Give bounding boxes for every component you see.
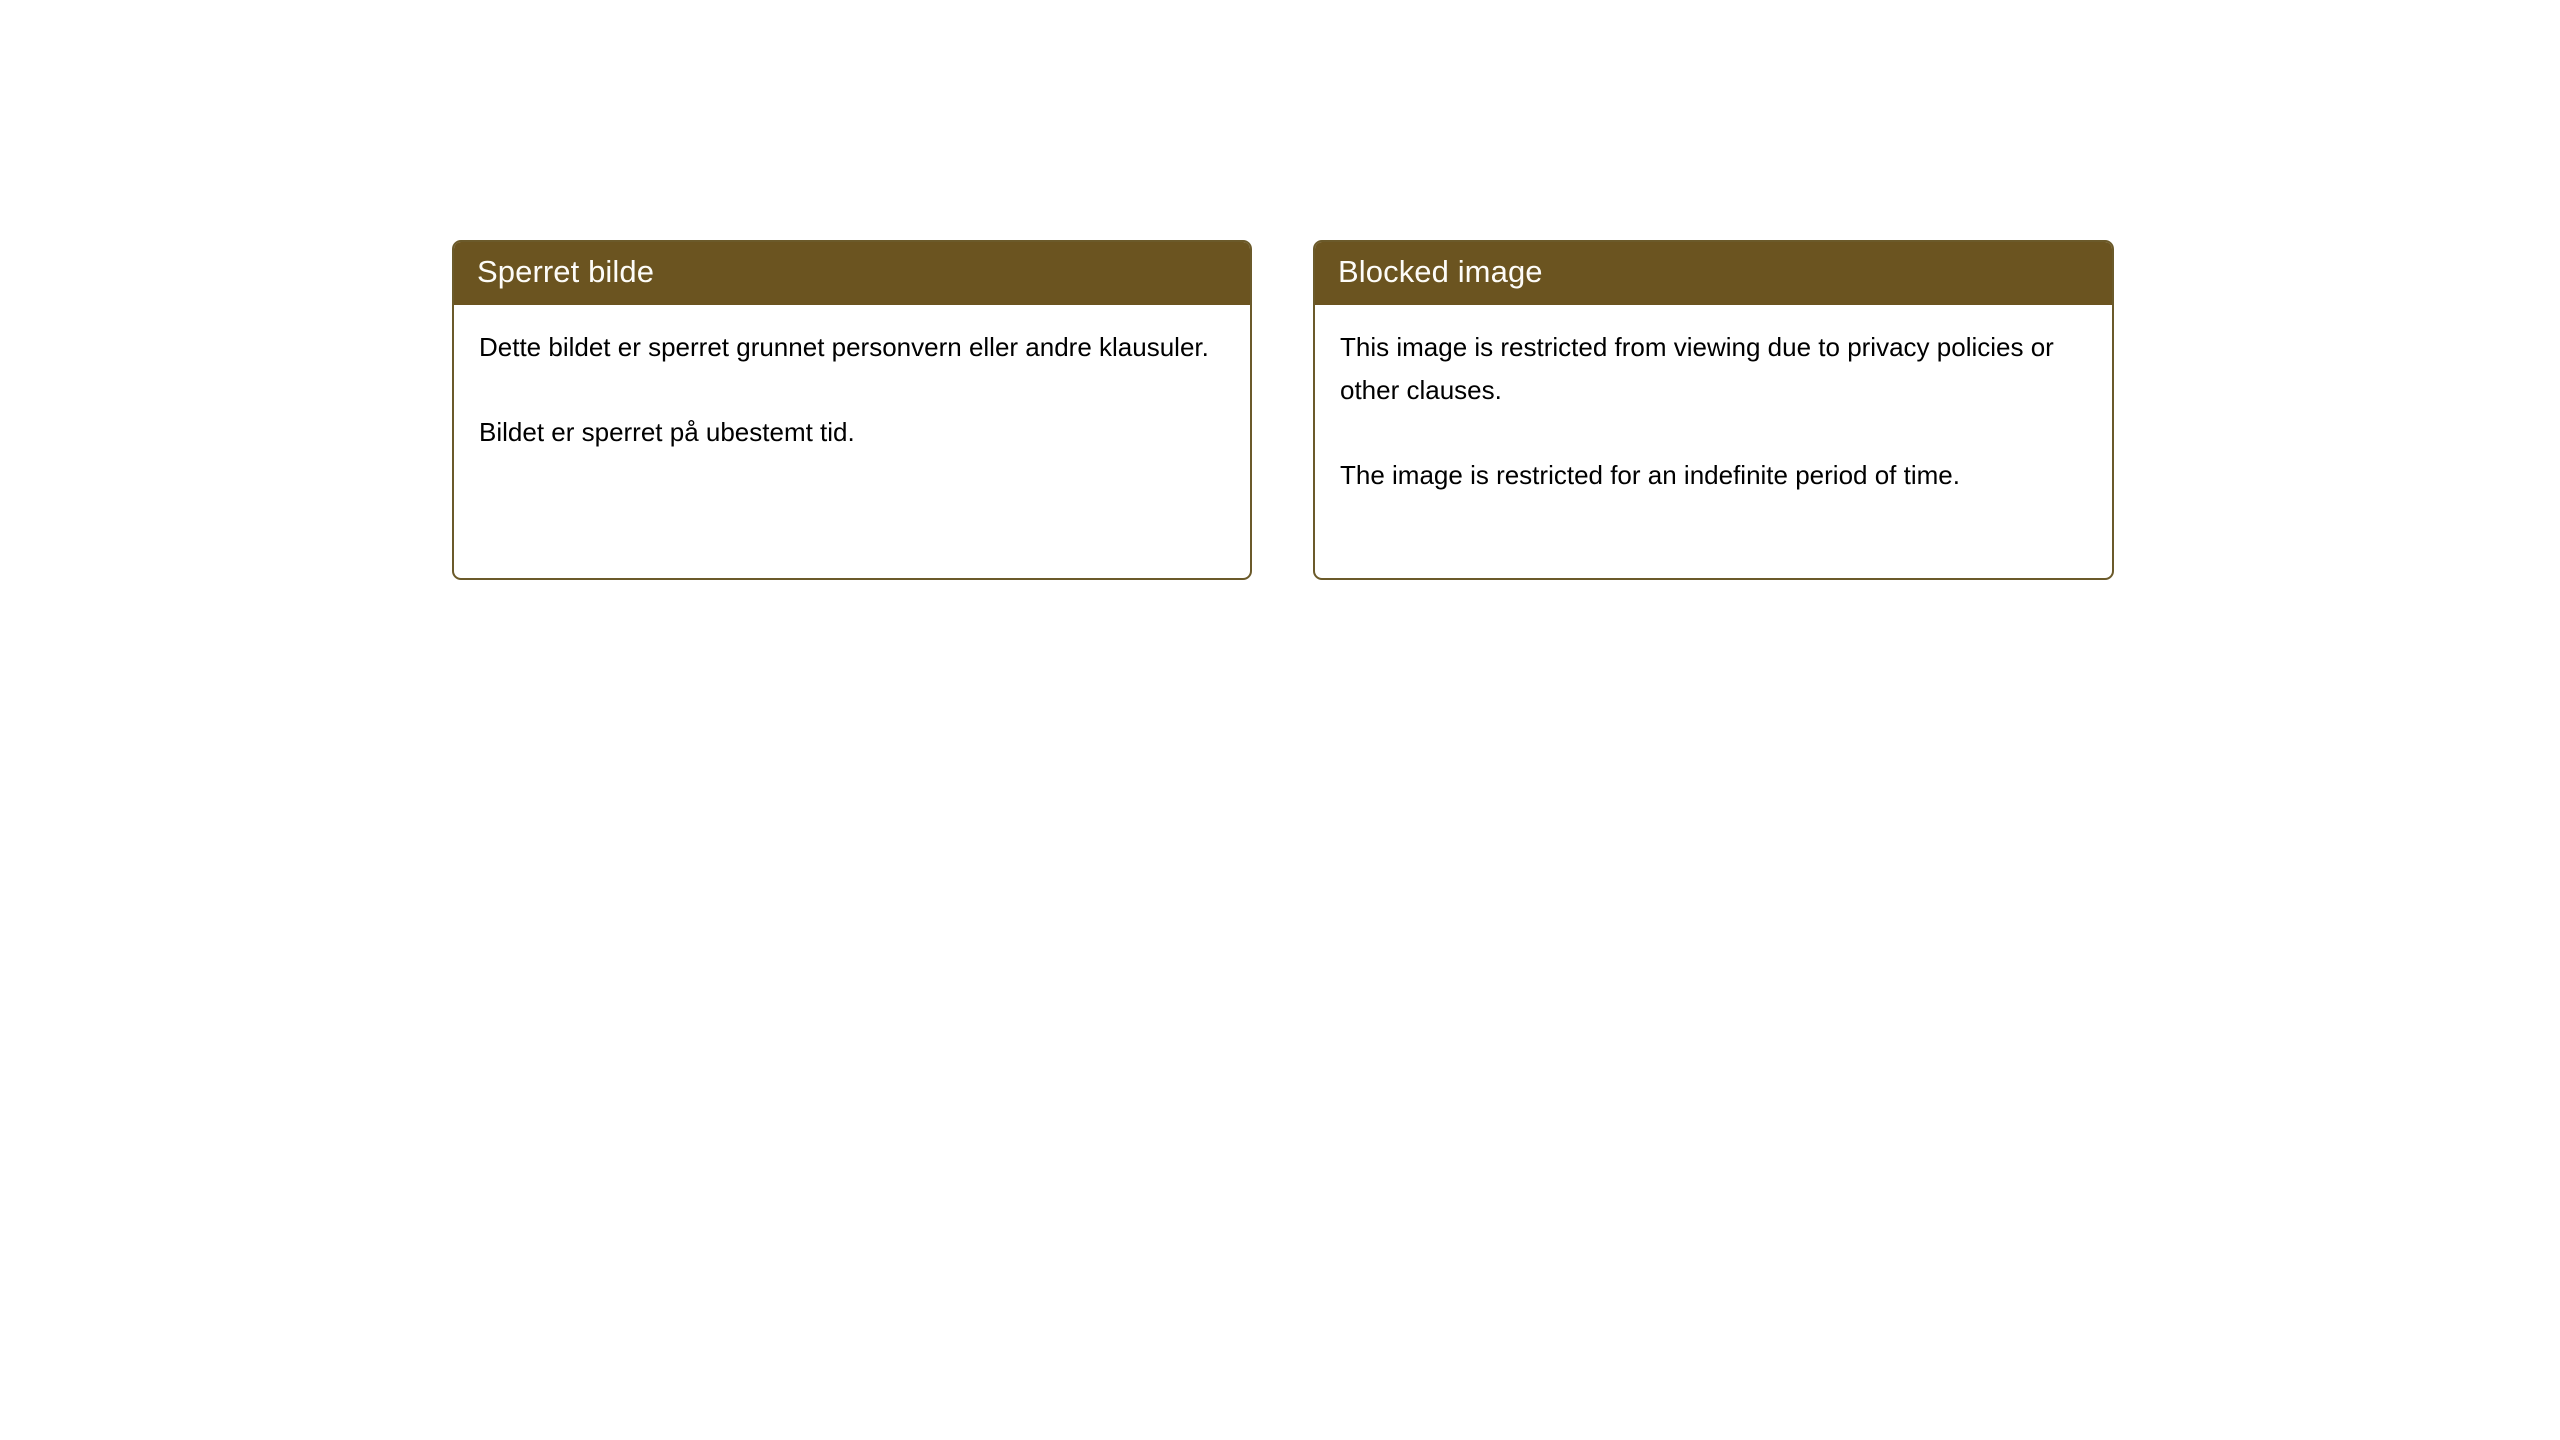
notice-paragraph-duration-en: The image is restricted for an indefinit… xyxy=(1340,454,2088,497)
notice-title-en: Blocked image xyxy=(1313,256,1543,290)
notice-body-no: Dette bildet er sperret grunnet personve… xyxy=(454,305,1250,578)
notice-body-en: This image is restricted from viewing du… xyxy=(1315,305,2112,578)
notice-paragraph-duration-no: Bildet er sperret på ubestemt tid. xyxy=(479,411,1226,454)
page-root: Sperret bilde Dette bildet er sperret gr… xyxy=(0,0,2560,1440)
notice-header-no: Sperret bilde xyxy=(452,240,1252,305)
notice-header-en: Blocked image xyxy=(1313,240,2114,305)
notice-title-no: Sperret bilde xyxy=(452,256,654,290)
notice-paragraph-reason-en: This image is restricted from viewing du… xyxy=(1340,326,2088,412)
blocked-image-notice-no: Sperret bilde Dette bildet er sperret gr… xyxy=(452,240,1252,580)
blocked-image-notice-en: Blocked image This image is restricted f… xyxy=(1313,240,2114,580)
notice-paragraph-reason-no: Dette bildet er sperret grunnet personve… xyxy=(479,326,1226,369)
